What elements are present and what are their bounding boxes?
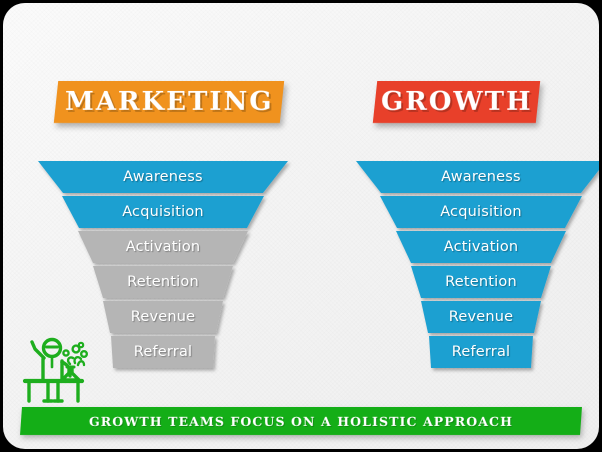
slide-frame: MARKETING GROWTH	[0, 0, 602, 452]
funnel-growth-labels: Awareness Acquisition Activation Retenti…	[351, 161, 599, 376]
funnel-stage-label: Awareness	[33, 169, 293, 185]
funnel-stage-label: Awareness	[351, 169, 599, 185]
header-banner-growth: GROWTH	[373, 81, 540, 123]
footer-banner: GROWTH TEAMS FOCUS ON A HOLISTIC APPROAC…	[20, 407, 582, 435]
funnel-stage-label: Activation	[33, 239, 293, 255]
funnel-stage-label: Referral	[351, 344, 599, 360]
funnel-stage-label: Activation	[351, 239, 599, 255]
funnel-stage-label: Retention	[33, 274, 293, 290]
funnel-stage-label: Revenue	[33, 309, 293, 325]
scientist-at-table-icon	[21, 331, 101, 407]
funnel-stage-label: Retention	[351, 274, 599, 290]
funnel-stage-label: Acquisition	[33, 204, 293, 220]
footer-banner-label: GROWTH TEAMS FOCUS ON A HOLISTIC APPROAC…	[89, 414, 513, 429]
funnel-stage-label: Revenue	[351, 309, 599, 325]
header-banner-growth-label: GROWTH	[381, 87, 533, 117]
funnel-stage-label: Acquisition	[351, 204, 599, 220]
slide-card: MARKETING GROWTH	[3, 3, 599, 449]
header-banner-marketing: MARKETING	[54, 81, 284, 123]
funnel-growth: Awareness Acquisition Activation Retenti…	[351, 161, 599, 376]
header-banner-marketing-label: MARKETING	[65, 87, 273, 117]
